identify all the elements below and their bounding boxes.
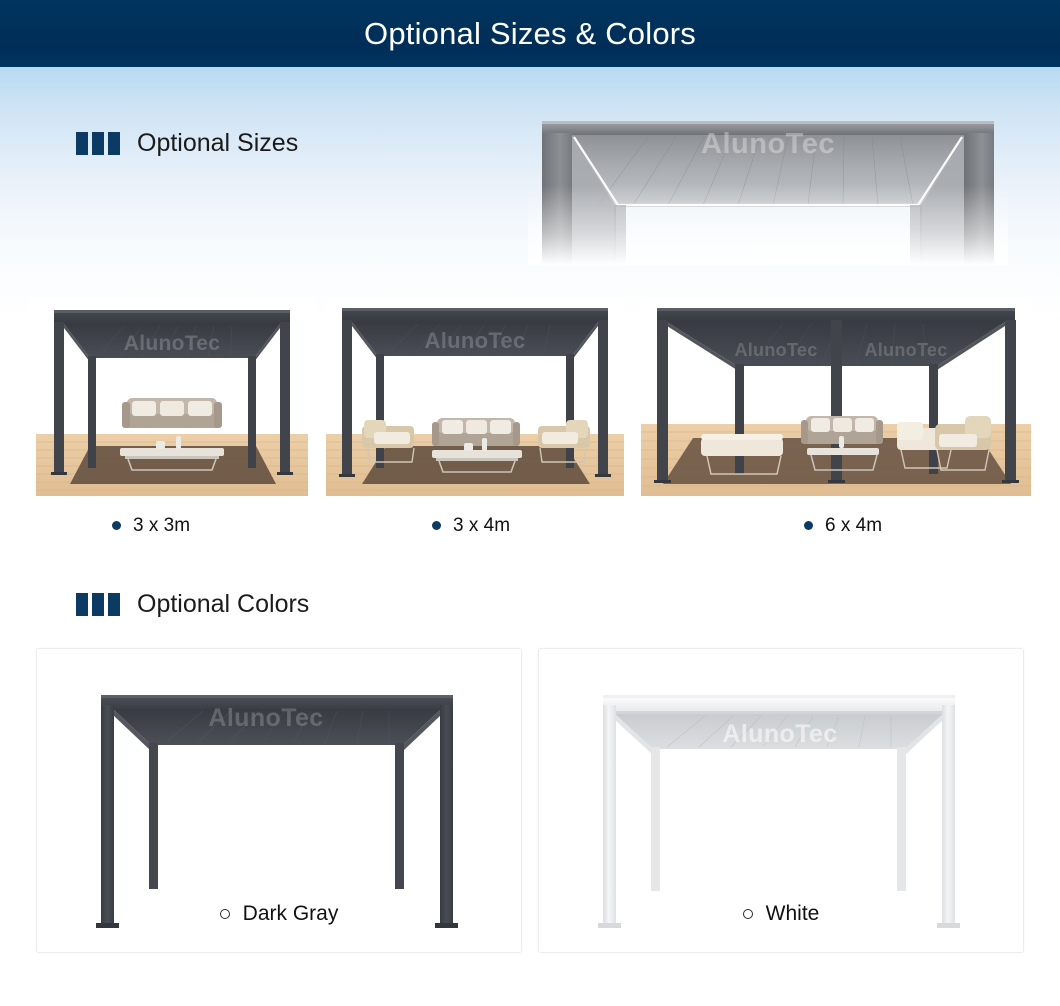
size-label-row: 6 x 4m [641, 516, 1031, 535]
color-label-row: Dark Gray [37, 903, 521, 924]
filled-dot-icon [804, 521, 813, 530]
size-label-text: 3 x 4m [453, 516, 510, 535]
pergola-image-6x4: AlunoTec AlunoTec [641, 298, 1031, 502]
color-option-card-white[interactable]: AlunoTec White [538, 648, 1024, 953]
section-title-colors: Optional Colors [137, 592, 309, 617]
three-bars-icon [76, 132, 120, 155]
color-option-card-dark-gray[interactable]: AlunoTec Dark Gray [36, 648, 522, 953]
color-label-row: White [539, 903, 1023, 924]
size-option-card[interactable]: AlunoTec AlunoTec 6 x 4m [641, 298, 1031, 535]
size-option-card[interactable]: AlunoTec 3 x 3m [28, 298, 316, 535]
color-label-text: White [766, 903, 820, 924]
hero-pergola-image: AlunoTec [528, 105, 1008, 265]
sizes-gallery: AlunoTec 3 x 3m [0, 298, 1060, 548]
svg-text:AlunoTec: AlunoTec [864, 340, 947, 360]
size-label-text: 6 x 4m [825, 516, 882, 535]
section-header-sizes: Optional Sizes [76, 131, 298, 156]
hollow-dot-icon [220, 909, 230, 919]
size-label-text: 3 x 3m [133, 516, 190, 535]
svg-text:AlunoTec: AlunoTec [124, 332, 221, 355]
filled-dot-icon [112, 521, 121, 530]
svg-text:AlunoTec: AlunoTec [701, 128, 835, 160]
svg-text:AlunoTec: AlunoTec [425, 328, 526, 353]
product-spec-page: Optional Sizes & Colors [0, 0, 1060, 1006]
pergola-image-3x4: AlunoTec [326, 298, 624, 502]
filled-dot-icon [432, 521, 441, 530]
hollow-dot-icon [743, 909, 753, 919]
size-label-row: 3 x 3m [28, 516, 316, 535]
svg-text:AlunoTec: AlunoTec [722, 720, 837, 748]
section-header-colors: Optional Colors [76, 592, 309, 617]
pergola-image-3x3: AlunoTec [28, 298, 316, 502]
page-title: Optional Sizes & Colors [364, 18, 696, 49]
size-option-card[interactable]: AlunoTec 3 x 4m [326, 298, 624, 535]
colors-gallery: AlunoTec Dark Gray [0, 648, 1060, 953]
page-title-bar: Optional Sizes & Colors [0, 0, 1060, 67]
svg-text:AlunoTec: AlunoTec [734, 340, 817, 360]
color-label-text: Dark Gray [243, 903, 339, 924]
three-bars-icon [76, 593, 120, 616]
size-label-row: 3 x 4m [326, 516, 624, 535]
svg-text:AlunoTec: AlunoTec [208, 704, 323, 732]
section-title-sizes: Optional Sizes [137, 131, 298, 156]
